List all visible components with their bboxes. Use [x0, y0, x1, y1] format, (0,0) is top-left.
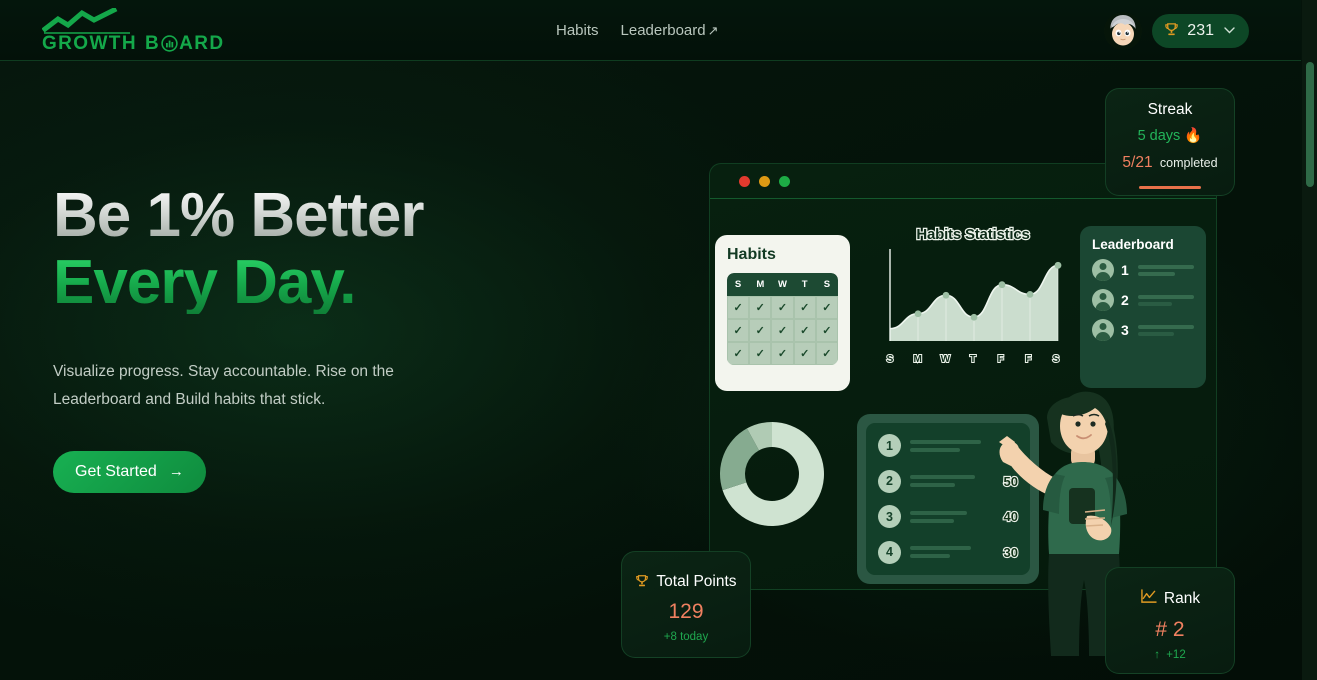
fire-icon: 🔥 — [1184, 128, 1202, 144]
arrow-up-right-icon: ↗ — [708, 23, 719, 39]
get-started-label: Get Started — [75, 463, 157, 481]
headline-line-2: Every Day. — [53, 253, 573, 314]
brand-logo[interactable]: GROWTH B ARD — [42, 8, 242, 54]
streak-days-value: 5 days — [1138, 128, 1181, 144]
arrow-up-icon: ↑ — [1154, 649, 1160, 661]
traffic-light-maximize[interactable] — [779, 176, 790, 187]
traffic-light-minimize[interactable] — [759, 176, 770, 187]
habit-check-cell[interactable]: ✓ — [727, 319, 749, 342]
habit-check-cell[interactable]: ✓ — [816, 296, 838, 319]
habit-check-cell[interactable]: ✓ — [816, 319, 838, 342]
habits-day-3: T — [794, 273, 816, 296]
habits-card-title: Habits — [727, 246, 838, 264]
habit-check-cell[interactable]: ✓ — [794, 342, 816, 365]
x-tick: W — [939, 354, 951, 365]
rank-title: Rank — [1164, 590, 1200, 608]
hero-section: Be 1% Better Every Day. Visualize progre… — [53, 186, 573, 493]
habits-row: ✓ ✓ ✓ ✓ ✓ — [727, 342, 838, 365]
list-item-skeleton — [910, 546, 981, 558]
list-item-number: 3 — [878, 505, 901, 528]
trophy-icon — [635, 574, 649, 591]
person-avatar-icon — [1092, 259, 1114, 281]
habit-check-cell[interactable]: ✓ — [794, 296, 816, 319]
leaderboard-card-title: Leaderboard — [1092, 237, 1194, 252]
list-item-skeleton — [910, 475, 981, 487]
trophy-icon — [1164, 22, 1179, 40]
streak-progress-value: 5/21 — [1122, 154, 1152, 171]
completion-donut-chart — [713, 415, 831, 533]
streak-card[interactable]: Streak 5 days 🔥 5/21 completed — [1105, 88, 1235, 196]
habit-check-cell[interactable]: ✓ — [749, 319, 771, 342]
area-chart-svg — [882, 247, 1064, 347]
list-item-number: 1 — [878, 434, 901, 457]
leaderboard-rank: 1 — [1121, 262, 1131, 278]
x-tick: F — [1022, 354, 1034, 365]
page-root: GROWTH B ARD Habits Leaderbo — [0, 0, 1317, 680]
brand-name-part1: GROWTH — [42, 34, 137, 53]
list-item-skeleton — [910, 440, 981, 452]
avatar[interactable] — [1104, 12, 1142, 50]
area-chart-x-axis: S M W T F F S — [882, 354, 1064, 365]
leaderboard-rank: 3 — [1121, 322, 1131, 338]
total-points-title: Total Points — [656, 573, 736, 591]
habit-check-cell[interactable]: ✓ — [749, 296, 771, 319]
leaderboard-rank: 2 — [1121, 292, 1131, 308]
habit-check-cell[interactable]: ✓ — [727, 296, 749, 319]
nav-item-leaderboard[interactable]: Leaderboard ↗ — [621, 22, 719, 39]
brand-logo-text: GROWTH B ARD — [42, 34, 224, 53]
habits-statistics-title: Habits Statistics — [882, 226, 1064, 243]
habits-card: Habits S M W T S ✓ ✓ ✓ ✓ ✓ ✓ — [715, 235, 850, 391]
bar-chart-circle-icon — [161, 35, 178, 52]
rank-value: # 2 — [1116, 618, 1224, 642]
habits-grid: S M W T S ✓ ✓ ✓ ✓ ✓ ✓ ✓ ✓ ✓ — [727, 273, 838, 365]
get-started-button[interactable]: Get Started → — [53, 451, 206, 493]
arrow-right-icon: → — [169, 463, 184, 480]
habit-check-cell[interactable]: ✓ — [727, 342, 749, 365]
leaderboard-row[interactable]: 2 — [1092, 289, 1194, 311]
habits-day-0: S — [727, 273, 749, 296]
habit-check-cell[interactable]: ✓ — [771, 342, 793, 365]
leaderboard-skeleton — [1138, 295, 1194, 306]
habit-check-cell[interactable]: ✓ — [771, 319, 793, 342]
habits-day-4: S — [816, 273, 838, 296]
x-tick: F — [995, 354, 1007, 365]
vertical-scrollbar-thumb[interactable] — [1306, 62, 1314, 187]
rank-delta: ↑ +12 — [1116, 649, 1224, 661]
habit-check-cell[interactable]: ✓ — [771, 296, 793, 319]
habit-check-cell[interactable]: ✓ — [794, 319, 816, 342]
list-item-number: 2 — [878, 470, 901, 493]
x-tick: S — [884, 354, 896, 365]
streak-title: Streak — [1116, 101, 1224, 119]
x-tick: T — [967, 354, 979, 365]
habits-row: ✓ ✓ ✓ ✓ ✓ — [727, 296, 838, 319]
leaderboard-row[interactable]: 1 — [1092, 259, 1194, 281]
streak-progress: 5/21 completed — [1116, 154, 1224, 172]
x-tick: M — [912, 354, 924, 365]
rank-card[interactable]: Rank # 2 ↑ +12 — [1105, 567, 1235, 674]
nav-label-habits: Habits — [556, 22, 599, 39]
header-right-group: 231 — [1104, 0, 1249, 61]
nav-label-leaderboard: Leaderboard — [621, 22, 706, 39]
leaderboard-card: Leaderboard 1 2 3 — [1080, 226, 1206, 388]
habits-day-1: M — [749, 273, 771, 296]
total-points-delta: +8 today — [632, 631, 740, 643]
chevron-down-icon[interactable] — [1224, 25, 1235, 37]
total-points-title-row: Total Points — [632, 573, 740, 591]
brand-name-part2-post: ARD — [179, 34, 224, 53]
line-chart-icon — [1140, 589, 1157, 609]
traffic-light-close[interactable] — [739, 176, 750, 187]
page-title: Be 1% Better Every Day. — [53, 186, 573, 314]
points-pill[interactable]: 231 — [1152, 14, 1249, 48]
donut-chart-svg — [713, 415, 831, 533]
habit-check-cell[interactable]: ✓ — [749, 342, 771, 365]
habit-check-cell[interactable]: ✓ — [816, 342, 838, 365]
rank-delta-value: +12 — [1166, 649, 1186, 661]
habits-row: ✓ ✓ ✓ ✓ ✓ — [727, 319, 838, 342]
habits-statistics-chart: Habits Statistics S M W T F F S — [882, 226, 1064, 356]
total-points-card[interactable]: Total Points 129 +8 today — [621, 551, 751, 658]
habits-day-2: W — [771, 273, 793, 296]
points-value: 231 — [1187, 22, 1214, 40]
x-tick: S — [1050, 354, 1062, 365]
top-header: GROWTH B ARD Habits Leaderbo — [0, 0, 1301, 61]
total-points-value: 129 — [632, 600, 740, 624]
logo-zigzag-chart-icon — [42, 8, 242, 34]
main-nav: Habits Leaderboard ↗ — [556, 0, 719, 61]
leaderboard-skeleton — [1138, 325, 1194, 336]
list-item-skeleton — [910, 511, 981, 523]
hero-subtitle: Visualize progress. Stay accountable. Ri… — [53, 358, 453, 415]
leaderboard-skeleton — [1138, 265, 1194, 276]
brand-name-part2-pre: B — [145, 34, 160, 53]
person-avatar-icon — [1092, 289, 1114, 311]
list-item-number: 4 — [878, 541, 901, 564]
streak-days: 5 days 🔥 — [1116, 127, 1224, 144]
leaderboard-row[interactable]: 3 — [1092, 319, 1194, 341]
headline-line-1: Be 1% Better — [53, 186, 573, 247]
rank-title-row: Rank — [1116, 589, 1224, 609]
person-avatar-icon — [1092, 319, 1114, 341]
streak-progress-bar — [1139, 186, 1201, 189]
nav-item-habits[interactable]: Habits — [556, 22, 599, 39]
habits-grid-header: S M W T S — [727, 273, 838, 296]
streak-progress-label: completed — [1160, 156, 1218, 170]
